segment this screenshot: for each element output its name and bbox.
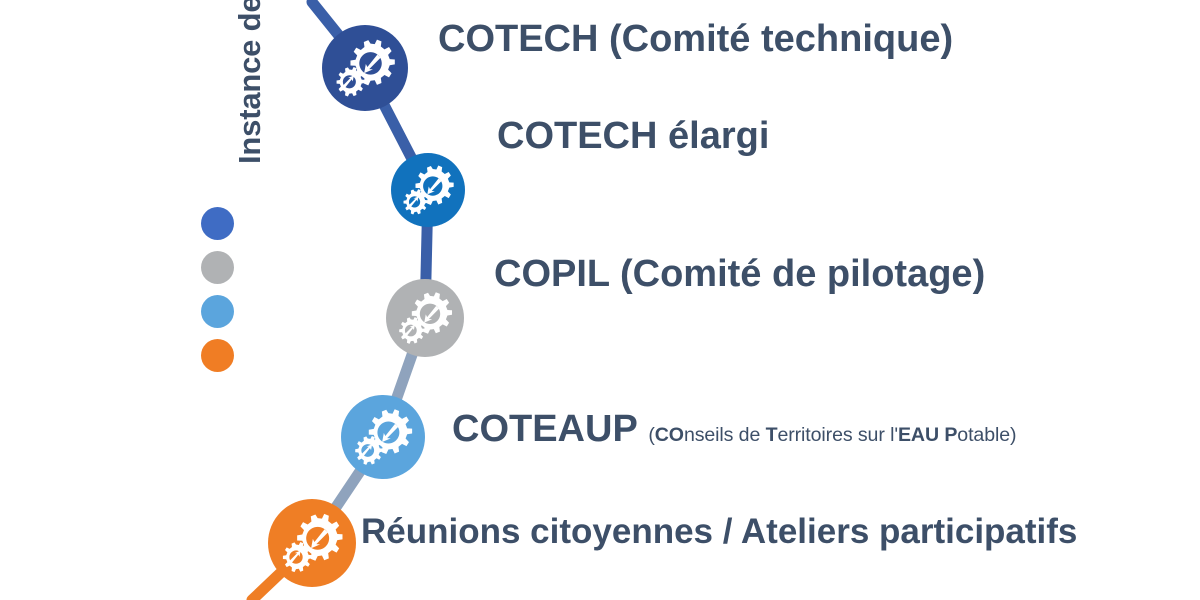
node-circle-copil[interactable] (386, 279, 464, 357)
axis-title: Instance de l'étude (228, 0, 272, 164)
node-circle-cotech-elargi[interactable] (391, 153, 465, 227)
node-label-text: COPIL (Comité de pilotage) (494, 253, 985, 295)
legend-dot-0 (201, 207, 234, 240)
node-circle-reunions-citoyennes[interactable] (268, 499, 356, 587)
node-label-text: COTEAUP (452, 408, 638, 450)
node-label-cotech: COTECH (Comité technique) (438, 20, 953, 58)
node-cotech[interactable] (322, 25, 408, 111)
legend (201, 207, 241, 383)
node-reunions-citoyennes[interactable] (268, 499, 356, 587)
node-circles (268, 25, 465, 587)
node-label-cotech-elargi: COTECH élargi (497, 117, 769, 155)
legend-dot-1 (201, 251, 234, 284)
node-sublabel-coteaup: (COnseils de Territoires sur l'EAU Potab… (648, 424, 1016, 446)
node-label-text: Réunions citoyennes / Ateliers participa… (361, 512, 1077, 551)
node-label-copil: COPIL (Comité de pilotage) (494, 255, 985, 293)
legend-dot-3 (201, 339, 234, 372)
node-label-text: COTECH (Comité technique) (438, 18, 953, 60)
node-coteaup[interactable] (341, 395, 425, 479)
node-circle-coteaup[interactable] (341, 395, 425, 479)
diagram-graphic (0, 0, 1200, 600)
node-circle-cotech[interactable] (322, 25, 408, 111)
node-label-reunions-citoyennes: Réunions citoyennes / Ateliers participa… (361, 514, 1077, 549)
legend-dot-2 (201, 295, 234, 328)
node-label-text: COTECH élargi (497, 115, 769, 157)
diagram-canvas: Instance de l'étude COTECH (Comité techn… (0, 0, 1200, 600)
node-cotech-elargi[interactable] (391, 153, 465, 227)
node-copil[interactable] (386, 279, 464, 357)
node-label-coteaup: COTEAUP (COnseils de Territoires sur l'E… (452, 410, 1016, 448)
